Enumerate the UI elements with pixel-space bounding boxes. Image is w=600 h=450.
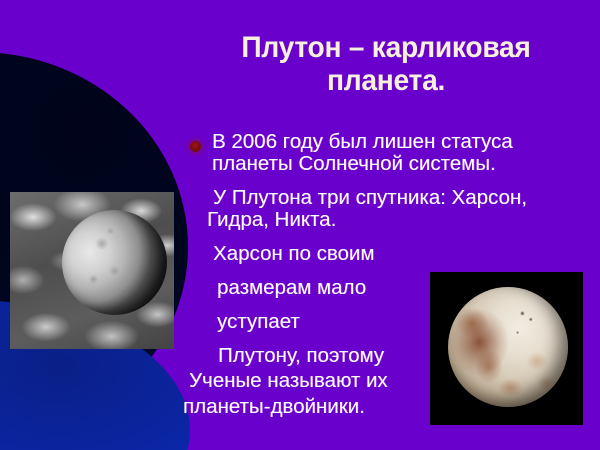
pluto-photo-image [430,272,583,425]
body-text-line: В 2006 году был лишен статуса [212,131,513,153]
pluto-sphere [448,287,568,407]
slide-title: Плутон – карликовая планета. [189,31,584,97]
moon-sphere [62,210,167,315]
body-text-line: уступает [217,311,300,333]
moon-photo-image [10,192,174,349]
body-text-line: У Плутона три спутника: Харсон, [213,187,527,209]
presentation-slide: Плутон – карликовая планета. В 2006 году… [0,0,600,450]
body-text-line: планеты-двойники. [183,396,365,418]
body-text-line: Гидра, Никта. [207,209,336,231]
body-text-line: Харсон по своим [213,243,374,265]
body-text-line: размерам мало [217,277,366,299]
body-text-line: планеты Солнечной системы. [212,153,496,175]
body-text-line: Плутону, поэтому [218,345,384,367]
body-text-line: Ученые называют их [189,370,388,392]
bullet-marker-icon [190,141,201,152]
